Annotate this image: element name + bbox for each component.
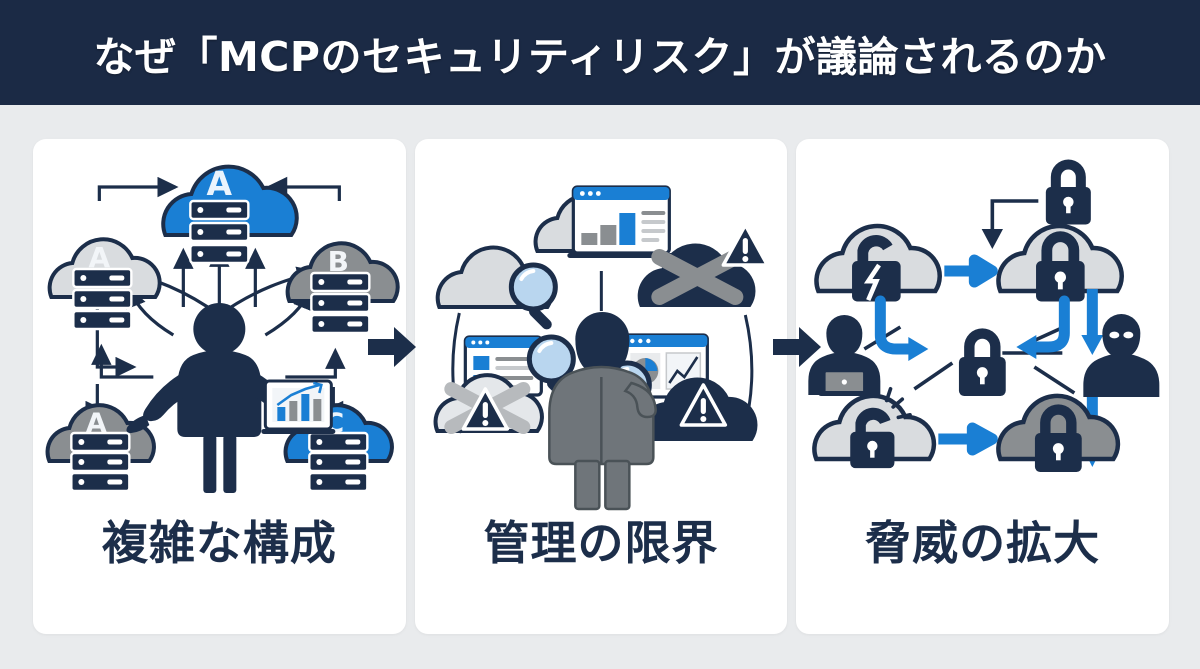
panel-management-illustration [415, 139, 788, 511]
cloud-a-top: A [163, 164, 297, 263]
page-title: なぜ「MCPのセキュリティリスク」が議論されるのか [94, 23, 1107, 83]
cloud-a-bottom-left: A [48, 405, 154, 491]
blue-arrow-right-top [945, 260, 993, 282]
dashboard-window-top [567, 187, 675, 258]
svg-text:A: A [207, 164, 233, 203]
panel-complexity[interactable]: A A [33, 139, 406, 634]
connector-arrow-1 [366, 324, 418, 370]
panel-management-limits[interactable]: 管理の限界 [415, 139, 788, 634]
blue-arrow-curve-left [881, 301, 929, 361]
padlock-top [1046, 160, 1091, 225]
panel-complexity-caption: 複雑な構成 [33, 507, 406, 573]
cloud-b-right: B [288, 243, 398, 333]
panel-complexity-illustration: A A [33, 139, 406, 511]
panel-threat-expansion[interactable]: 脅威の拡大 [796, 139, 1169, 634]
panel-threat-illustration [796, 139, 1169, 511]
panel-management-caption: 管理の限界 [415, 507, 788, 573]
infographic-page: なぜ「MCPのセキュリティリスク」が議論されるのか [0, 0, 1200, 669]
panel-threat-caption: 脅威の拡大 [796, 507, 1169, 573]
blue-arrow-right-bottom [939, 428, 993, 450]
padlock-center [959, 328, 1006, 396]
panel-row: A A [33, 139, 1169, 634]
connector-arrow-2 [771, 324, 823, 370]
page-header: なぜ「MCPのセキュリティリスク」が議論されるのか [0, 0, 1200, 105]
cloud-a-left: A [50, 239, 160, 329]
bar-chart-screen [261, 381, 335, 434]
magnifier-left [511, 265, 555, 332]
warning-triangle-top-right [723, 225, 767, 265]
